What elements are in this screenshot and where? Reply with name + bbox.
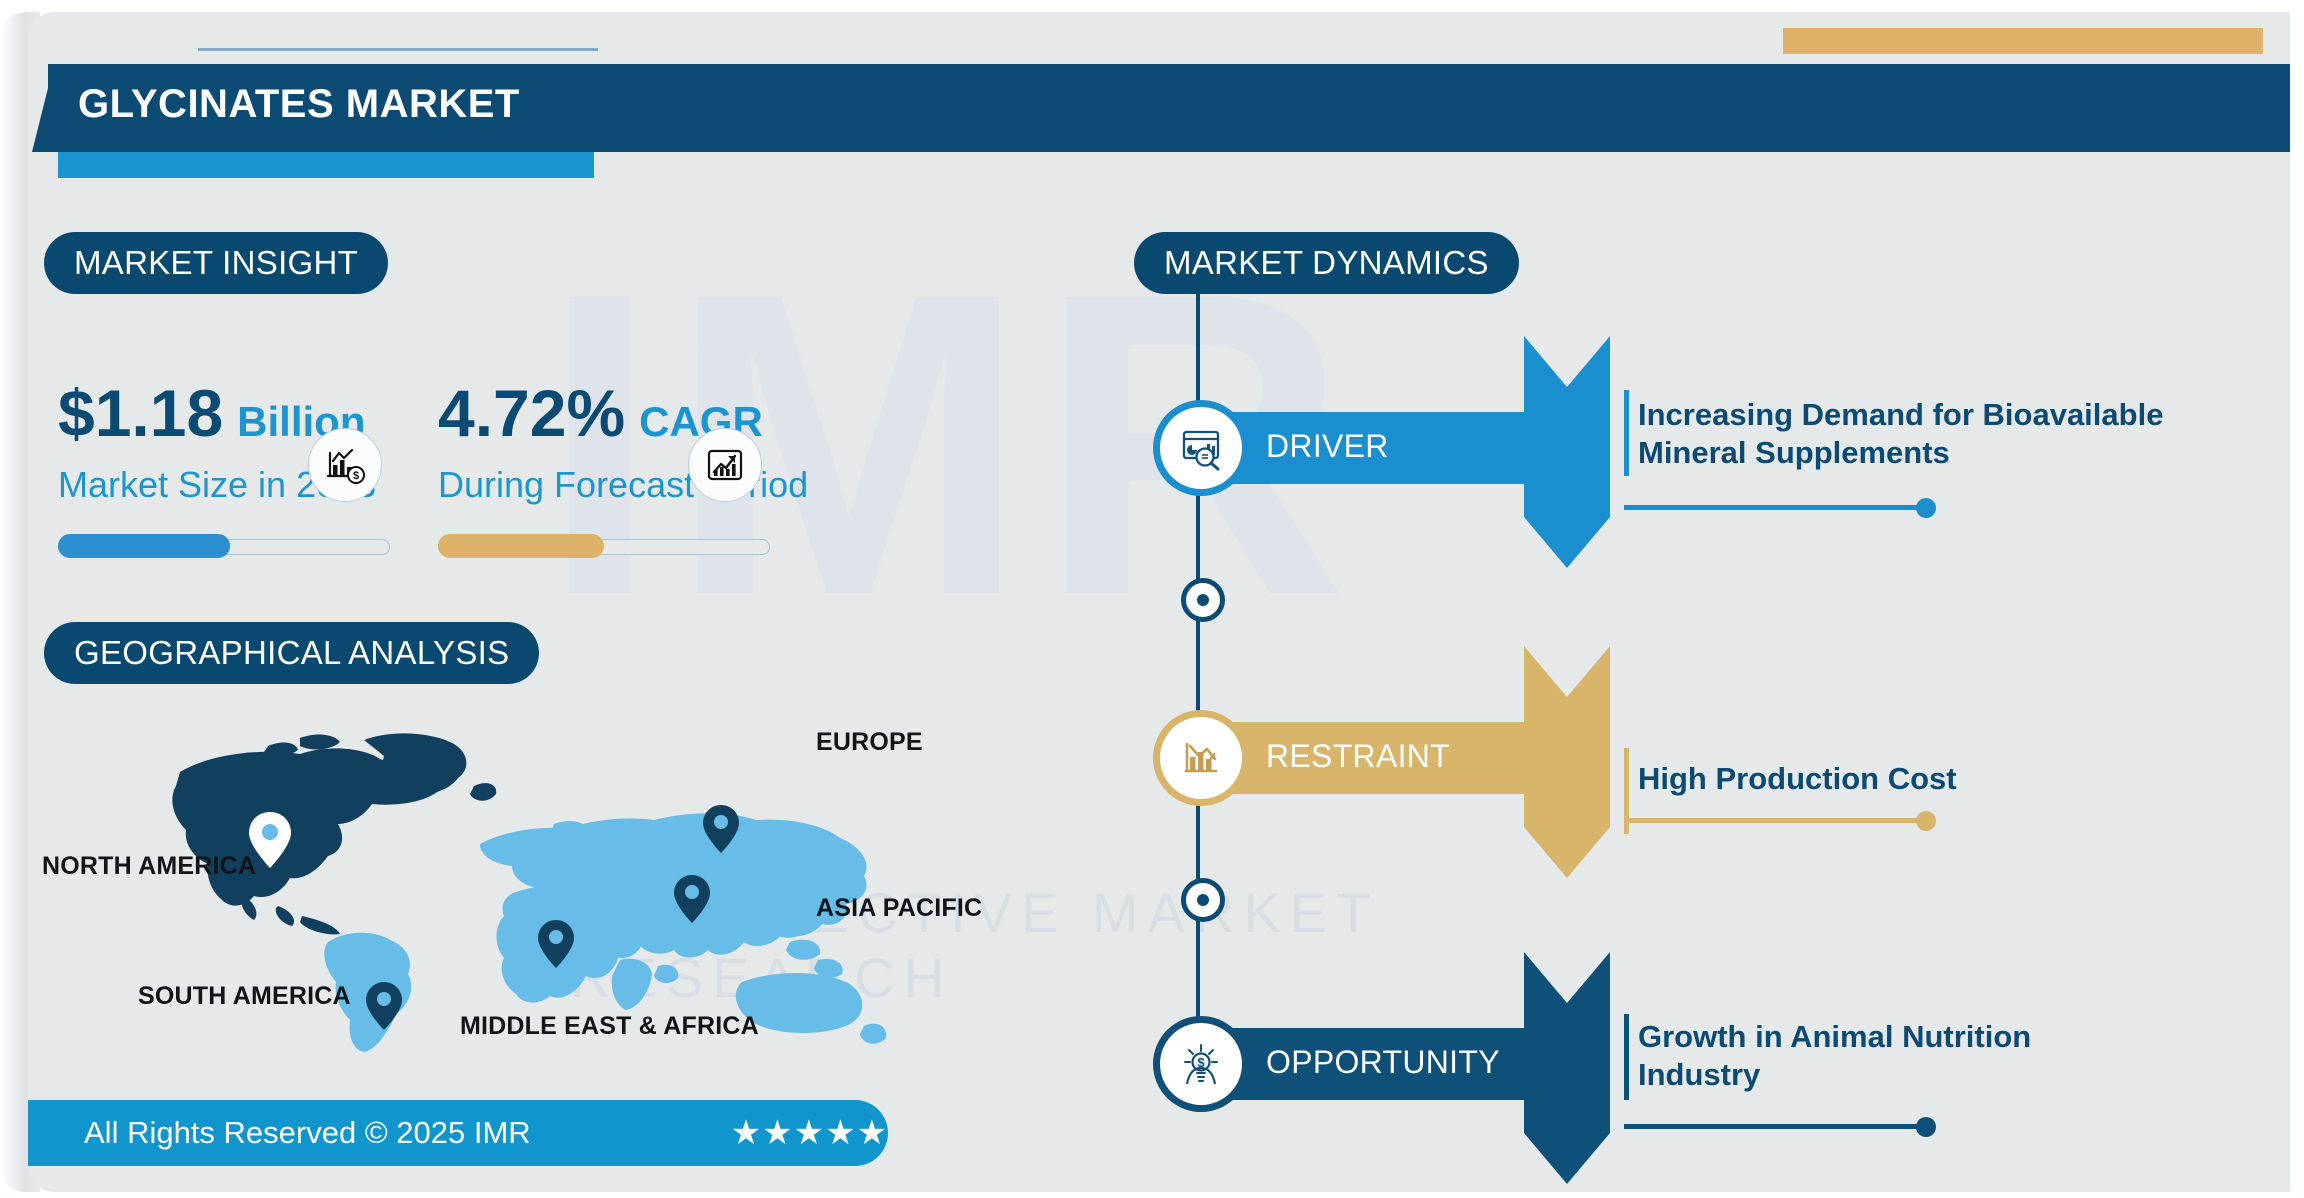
growth-chart-icon bbox=[688, 428, 762, 502]
header-underline bbox=[58, 152, 594, 178]
opportunity-connector-dot bbox=[1916, 1117, 1936, 1137]
opportunity-label: OPPORTUNITY bbox=[1266, 1044, 1500, 1081]
map-region-north-america bbox=[172, 733, 496, 934]
map-label-north-america: NORTH AMERICA bbox=[42, 852, 256, 881]
bar-chart-dollar-icon: $ bbox=[308, 428, 382, 502]
driver-text: Increasing Demand for Bioavailable Miner… bbox=[1638, 396, 2238, 472]
driver-connector bbox=[1624, 505, 1924, 510]
opportunity-text: Growth in Animal Nutrition Industry bbox=[1638, 1018, 2158, 1094]
opportunity-icon-circle: $ bbox=[1160, 1023, 1242, 1105]
market-size-progress bbox=[58, 532, 388, 560]
map-label-south-america: SOUTH AMERICA bbox=[138, 982, 351, 1011]
spine-node-1 bbox=[1181, 578, 1225, 622]
spine-node-2 bbox=[1181, 878, 1225, 922]
restraint-connector bbox=[1624, 818, 1924, 823]
cagr-value: 4.72% bbox=[438, 380, 625, 446]
lightbulb-dollar-icon: $ bbox=[1177, 1040, 1225, 1088]
progress-fill bbox=[438, 534, 604, 558]
section-label-geographical-analysis: GEOGRAPHICAL ANALYSIS bbox=[44, 622, 539, 684]
driver-connector-dot bbox=[1916, 498, 1936, 518]
section-label-market-dynamics: MARKET DYNAMICS bbox=[1134, 232, 1519, 294]
header-accent-line bbox=[198, 48, 598, 51]
dashboard-magnifier-icon bbox=[1177, 424, 1225, 472]
copyright-text: All Rights Reserved © 2025 IMR bbox=[84, 1115, 531, 1151]
restraint-text: High Production Cost bbox=[1638, 760, 2238, 798]
restraint-connector-dot bbox=[1916, 811, 1936, 831]
svg-text:$: $ bbox=[353, 470, 359, 482]
rating-stars: ★★★★★ bbox=[731, 1113, 888, 1153]
market-size-value: $1.18 bbox=[58, 380, 223, 446]
opportunity-text-tick bbox=[1624, 1014, 1629, 1100]
page-title: GLYCINATES MARKET bbox=[78, 82, 520, 127]
restraint-label: RESTRAINT bbox=[1266, 738, 1450, 775]
driver-text-tick bbox=[1624, 390, 1629, 476]
footer-bar: All Rights Reserved © 2025 IMR ★★★★★ bbox=[28, 1100, 888, 1166]
driver-icon-circle bbox=[1160, 407, 1242, 489]
declining-bar-chart-icon bbox=[1177, 734, 1225, 782]
section-label-market-insight: MARKET INSIGHT bbox=[44, 232, 388, 294]
header-gold-block bbox=[1783, 28, 2263, 54]
map-label-middle-east-africa: MIDDLE EAST & AFRICA bbox=[460, 1012, 759, 1041]
progress-fill bbox=[58, 534, 230, 558]
restraint-icon-circle bbox=[1160, 717, 1242, 799]
map-label-asia-pacific: ASIA PACIFIC bbox=[816, 894, 982, 923]
map-label-europe: EUROPE bbox=[816, 728, 923, 757]
opportunity-connector bbox=[1624, 1124, 1924, 1129]
infographic-root: IMR PROSPECTIVE MARKET RESEARCH GLYCINAT… bbox=[0, 0, 2304, 1198]
driver-label: DRIVER bbox=[1266, 428, 1389, 465]
stat-value-row: 4.72% CAGR bbox=[438, 380, 808, 446]
cagr-progress bbox=[438, 532, 768, 560]
